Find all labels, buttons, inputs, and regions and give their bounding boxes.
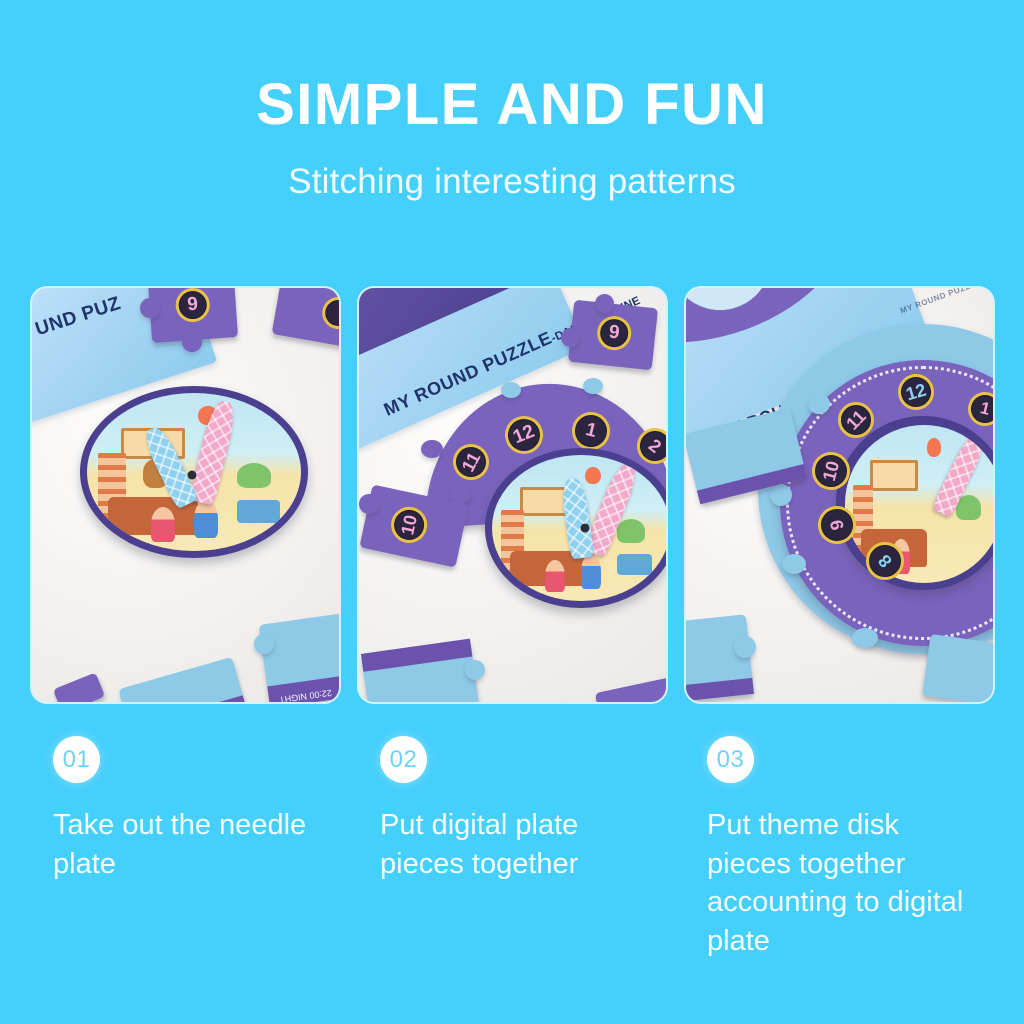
piece-knob: [770, 484, 792, 506]
photo-panel-2[interactable]: MY ROUND PUZZLE-DAILY ROUTINE 9 11 12 1 …: [359, 288, 666, 702]
step-badge-01: 01: [53, 736, 100, 783]
theme-disk-3: [838, 418, 993, 590]
header: SIMPLE AND FUN Stitching interesting pat…: [0, 0, 1024, 201]
step-03: 03 Put theme disk pieces together accoun…: [686, 736, 993, 960]
artwork-child-red: [151, 507, 175, 542]
piece-knob: [782, 554, 806, 574]
step-01: 01 Take out the needle plate: [32, 736, 339, 960]
piece-knob: [254, 634, 274, 654]
artwork-child-blue: [194, 500, 218, 538]
artwork-child-red: [545, 560, 565, 592]
artwork-child-blue: [581, 554, 601, 589]
step-02: 02 Put digital plate pieces together: [359, 736, 666, 960]
photo-panel-3[interactable]: MY ROUND PUZZLE-DAILY ROUTINE MY ROUND P…: [686, 288, 993, 702]
artwork-toy-green: [617, 519, 645, 542]
page-subtitle: Stitching interesting patterns: [0, 163, 1024, 202]
steps-row: 01 Take out the needle plate 02 Put digi…: [32, 736, 994, 960]
theme-disk-1: [80, 386, 308, 558]
clock-hand-pivot: [580, 524, 589, 533]
theme-piece-night: 22:00 NIGHT: [259, 612, 339, 702]
photo-panel-1[interactable]: UND PUZ 9: [32, 288, 339, 702]
artwork-toy-blue: [237, 500, 280, 522]
number-badge-9: 9: [596, 314, 633, 351]
piece-knob: [421, 440, 443, 458]
piece-knob: [734, 636, 756, 658]
number-badge-9: 9: [175, 288, 211, 323]
piece-knob: [182, 332, 202, 352]
piece-knob: [359, 494, 379, 514]
piece-knob: [465, 660, 485, 680]
artwork-wall-picture: [870, 460, 917, 492]
clock-hand-blue: [560, 477, 595, 560]
artwork-toy-green: [237, 463, 271, 488]
piece-knob: [501, 382, 521, 398]
clock-hand-pivot: [187, 471, 196, 480]
piece-knob: [852, 628, 878, 648]
piece-knob: [583, 378, 603, 394]
step-number-02: 02: [390, 746, 418, 774]
step-caption-03: Put theme disk pieces together accountin…: [707, 806, 969, 960]
step-badge-03: 03: [707, 736, 754, 783]
piece-knob: [140, 298, 160, 318]
number-badge-10: 10: [388, 504, 431, 547]
clock-hand-pink: [188, 399, 238, 506]
theme-disk-2: [485, 448, 666, 608]
theme-piece-bottom-right: [922, 634, 993, 702]
piece-knob: [808, 394, 830, 414]
puzzle-piece-number-9: 9: [568, 300, 658, 370]
disk-artwork: [87, 393, 301, 551]
artwork-balloon: [927, 438, 941, 457]
theme-piece-left-lower: [686, 614, 754, 702]
step-caption-02: Put digital plate pieces together: [380, 806, 642, 883]
piece-knob: [595, 294, 614, 313]
page-title: SIMPLE AND FUN: [0, 74, 1024, 137]
step-number-01: 01: [63, 746, 91, 774]
artwork-toy-blue: [617, 554, 653, 574]
piece-knob: [561, 328, 580, 347]
number-badge-partial: [320, 294, 339, 331]
artwork-balloon: [585, 467, 601, 485]
photo-panels: UND PUZ 9: [32, 288, 994, 702]
step-caption-01: Take out the needle plate: [53, 806, 315, 883]
step-number-03: 03: [717, 746, 745, 774]
disk-artwork: [492, 455, 666, 601]
step-badge-02: 02: [380, 736, 427, 783]
